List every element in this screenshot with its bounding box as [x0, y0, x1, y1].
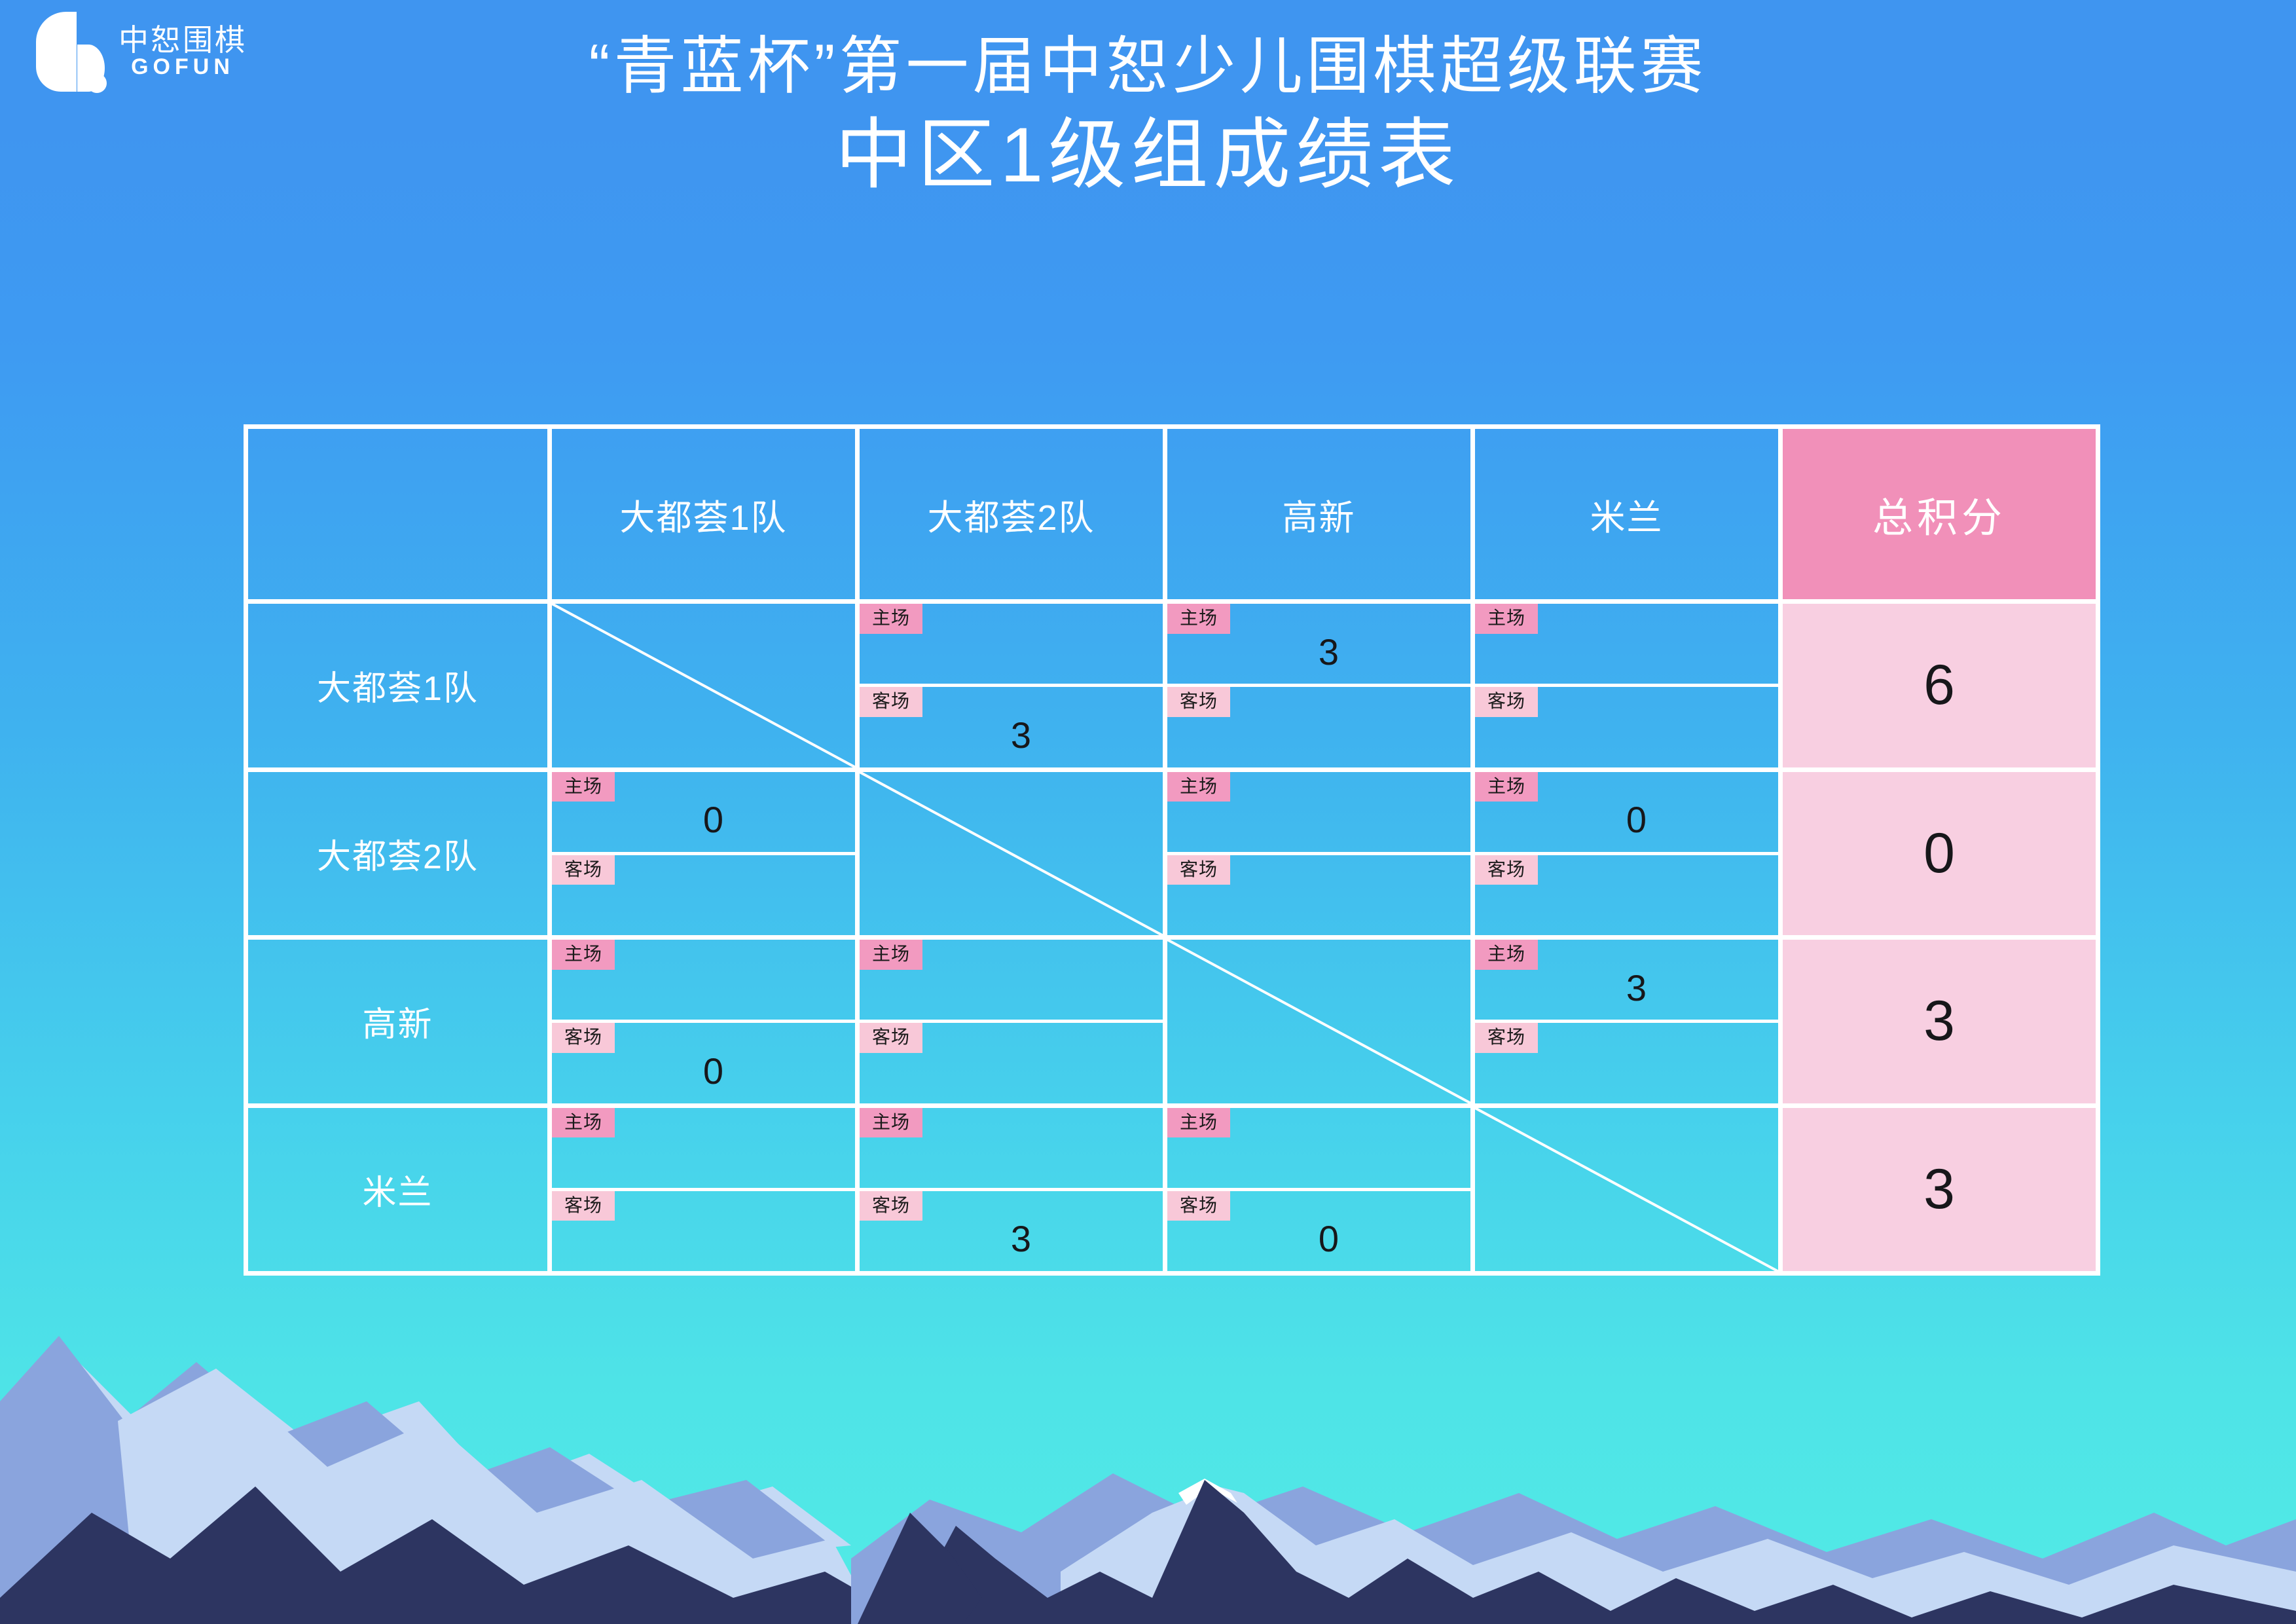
- away-sub-cell[interactable]: 客场: [552, 1188, 855, 1271]
- match-cell-r4-c2[interactable]: 主场3客场: [855, 1108, 1163, 1272]
- column-header-total: 总积分: [1778, 429, 2096, 599]
- away-badge: 客场: [1167, 855, 1230, 885]
- total-points-value: 3: [1783, 1108, 2096, 1272]
- away-badge: 客场: [860, 1191, 922, 1221]
- match-cell-r3-c2[interactable]: 主场客场: [855, 940, 1163, 1103]
- match-cell-r4-c3[interactable]: 主场0客场: [1163, 1108, 1470, 1272]
- home-sub-cell[interactable]: 主场: [860, 1108, 1163, 1188]
- away-badge: 客场: [1167, 687, 1230, 717]
- row-team-name: 大都荟2队: [248, 772, 547, 936]
- away-sub-cell[interactable]: 客场: [1167, 684, 1470, 767]
- home-badge: 主场: [860, 1108, 922, 1138]
- column-header-2: 大都荟2队: [855, 429, 1163, 599]
- away-badge: 客场: [860, 1023, 922, 1053]
- match-cell-r1-c2[interactable]: 主场3客场: [855, 604, 1163, 767]
- diagonal-strike-icon: [1167, 940, 1470, 1103]
- total-points-value: 6: [1783, 604, 2096, 767]
- total-points-cell: 3: [1778, 1108, 2096, 1272]
- page-title: “青蓝杯”第一届中恕少儿围棋超级联赛 中区1级组成绩表: [0, 28, 2296, 203]
- away-badge: 客场: [1475, 1023, 1538, 1053]
- home-sub-cell[interactable]: 主场: [1475, 604, 1778, 684]
- home-sub-cell[interactable]: 3主场: [1167, 604, 1470, 684]
- home-sub-cell[interactable]: 主场: [1167, 1108, 1470, 1188]
- total-points-value: 3: [1783, 940, 2096, 1103]
- diagonal-blocked-cell: [547, 604, 855, 767]
- diagonal-strike-icon: [1475, 1108, 1778, 1272]
- away-sub-cell[interactable]: 客场: [860, 1020, 1163, 1103]
- away-badge: 客场: [1475, 687, 1538, 717]
- total-points-value: 0: [1783, 772, 2096, 936]
- home-badge: 主场: [1475, 940, 1538, 970]
- away-badge: 客场: [552, 1023, 615, 1053]
- home-sub-cell[interactable]: 主场: [860, 940, 1163, 1020]
- table-corner-cell: [248, 429, 547, 599]
- match-cell-r1-c3[interactable]: 3主场客场: [1163, 604, 1470, 767]
- table-row: 大都荟2队0主场客场主场客场0主场客场0: [248, 767, 2096, 936]
- home-sub-cell[interactable]: 主场: [552, 940, 855, 1020]
- away-sub-cell[interactable]: 客场: [552, 852, 855, 935]
- match-cell-r3-c1[interactable]: 主场0客场: [547, 940, 855, 1103]
- table-row: 大都荟1队主场3客场3主场客场主场客场6: [248, 599, 2096, 767]
- row-team-name: 高新: [248, 940, 547, 1103]
- home-sub-cell[interactable]: 主场: [1167, 772, 1470, 852]
- home-badge: 主场: [860, 940, 922, 970]
- away-sub-cell[interactable]: 客场: [1475, 852, 1778, 935]
- match-cell-r1-c4[interactable]: 主场客场: [1470, 604, 1778, 767]
- home-badge: 主场: [1475, 604, 1538, 634]
- home-sub-cell[interactable]: 主场: [552, 1108, 855, 1188]
- column-header-3: 高新: [1163, 429, 1470, 599]
- home-badge: 主场: [552, 940, 615, 970]
- match-cell-r2-c3[interactable]: 主场客场: [1163, 772, 1470, 936]
- home-badge: 主场: [1167, 1108, 1230, 1138]
- away-sub-cell[interactable]: 3客场: [860, 684, 1163, 767]
- home-badge: 主场: [1167, 772, 1230, 802]
- home-sub-cell[interactable]: 0主场: [1475, 772, 1778, 852]
- diagonal-strike-icon: [860, 772, 1163, 936]
- away-badge: 客场: [1167, 1191, 1230, 1221]
- table-row: 米兰主场客场主场3客场主场0客场3: [248, 1103, 2096, 1272]
- diagonal-blocked-cell: [1470, 1108, 1778, 1272]
- away-sub-cell[interactable]: 客场: [1475, 684, 1778, 767]
- total-points-cell: 6: [1778, 604, 2096, 767]
- away-sub-cell[interactable]: 3客场: [860, 1188, 1163, 1271]
- column-header-4: 米兰: [1470, 429, 1778, 599]
- table-row: 高新主场0客场主场客场3主场客场3: [248, 935, 2096, 1103]
- diagonal-strike-icon: [552, 604, 855, 767]
- home-badge: 主场: [552, 772, 615, 802]
- home-sub-cell[interactable]: 主场: [860, 604, 1163, 684]
- away-sub-cell[interactable]: 客场: [1475, 1020, 1778, 1103]
- away-badge: 客场: [860, 687, 922, 717]
- home-sub-cell[interactable]: 3主场: [1475, 940, 1778, 1020]
- title-line-1: “青蓝杯”第一届中恕少儿围棋超级联赛: [0, 28, 2296, 106]
- match-cell-r2-c1[interactable]: 0主场客场: [547, 772, 855, 936]
- away-sub-cell[interactable]: 0客场: [1167, 1188, 1470, 1271]
- row-team-name: 米兰: [248, 1108, 547, 1272]
- standings-table: 大都荟1队大都荟2队高新米兰总积分大都荟1队主场3客场3主场客场主场客场6大都荟…: [244, 424, 2100, 1276]
- diagonal-blocked-cell: [855, 772, 1163, 936]
- home-badge: 主场: [860, 604, 922, 634]
- title-line-2: 中区1级组成绩表: [0, 109, 2296, 203]
- away-badge: 客场: [552, 1191, 615, 1221]
- match-cell-r3-c4[interactable]: 3主场客场: [1470, 940, 1778, 1103]
- total-points-cell: 3: [1778, 940, 2096, 1103]
- diagonal-blocked-cell: [1163, 940, 1470, 1103]
- table-header-row: 大都荟1队大都荟2队高新米兰总积分: [248, 429, 2096, 599]
- home-badge: 主场: [1167, 604, 1230, 634]
- away-sub-cell[interactable]: 0客场: [552, 1020, 855, 1103]
- home-badge: 主场: [1475, 772, 1538, 802]
- total-points-cell: 0: [1778, 772, 2096, 936]
- column-header-1: 大都荟1队: [547, 429, 855, 599]
- row-team-name: 大都荟1队: [248, 604, 547, 767]
- match-cell-r2-c4[interactable]: 0主场客场: [1470, 772, 1778, 936]
- away-badge: 客场: [552, 855, 615, 885]
- home-badge: 主场: [552, 1108, 615, 1138]
- away-badge: 客场: [1475, 855, 1538, 885]
- away-sub-cell[interactable]: 客场: [1167, 852, 1470, 935]
- home-sub-cell[interactable]: 0主场: [552, 772, 855, 852]
- match-cell-r4-c1[interactable]: 主场客场: [547, 1108, 855, 1272]
